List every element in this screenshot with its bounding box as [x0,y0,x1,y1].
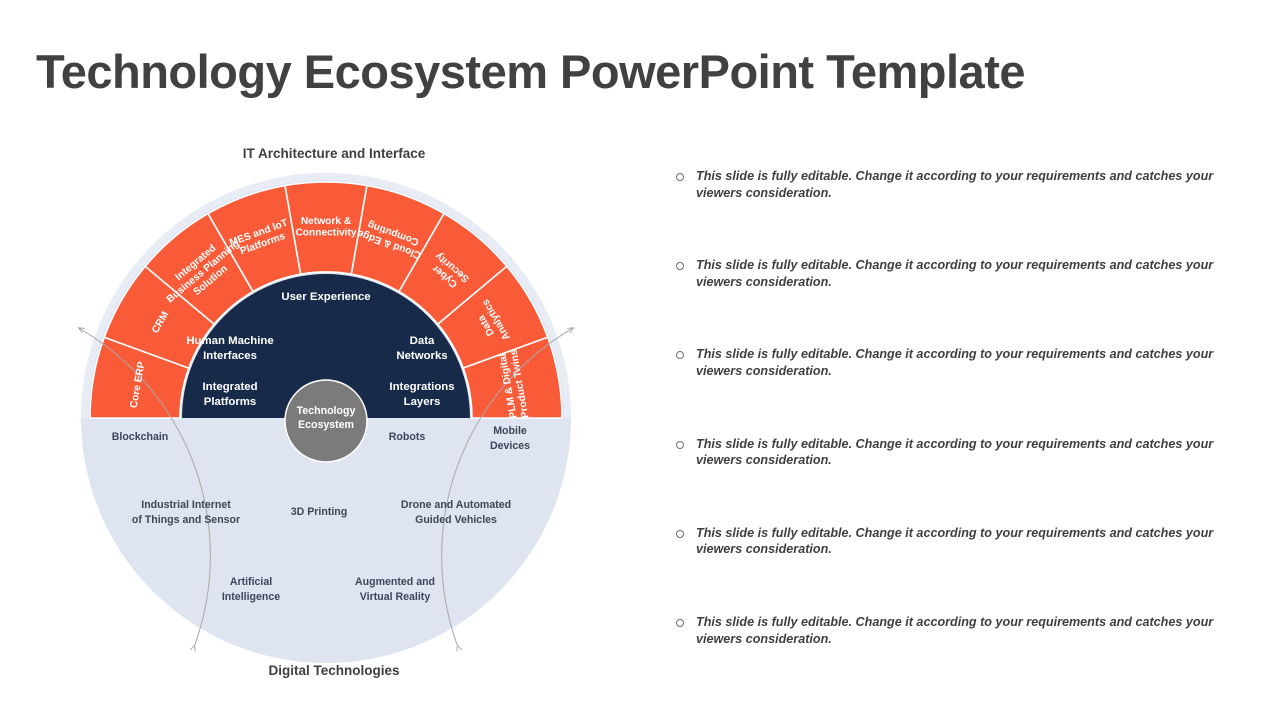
diagram-caption-bottom: Digital Technologies [34,663,634,678]
svg-text:Artificial: Artificial [230,576,272,588]
bullet-circle-icon [676,441,684,449]
svg-text:of Things and Sensor: of Things and Sensor [132,514,240,526]
svg-text:Interfaces: Interfaces [203,350,257,362]
bullet-circle-icon [676,351,684,359]
list-item: This slide is fully editable. Change it … [676,614,1221,647]
svg-text:Layers: Layers [404,396,441,408]
svg-text:Robots: Robots [389,431,426,443]
technology-ecosystem-wheel: IT Architecture and Interface Core ERPCR… [40,130,640,690]
bullet-text: This slide is fully editable. Change it … [696,614,1221,647]
ring-segment-label: Network & [301,216,352,227]
svg-text:Integrations: Integrations [389,381,454,393]
list-item: This slide is fully editable. Change it … [676,436,1221,469]
wheel-svg: Core ERPCRMIntegratedBusiness PlanningSo… [40,130,640,690]
ring-segment-label: Connectivity [295,227,356,238]
bullet-text: This slide is fully editable. Change it … [696,257,1221,290]
bullet-circle-icon [676,173,684,181]
bullet-circle-icon [676,619,684,627]
svg-text:Human Machine: Human Machine [186,335,273,347]
outer-technology-label[interactable]: 3D Printing [291,506,348,518]
bullet-circle-icon [676,530,684,538]
list-item: This slide is fully editable. Change it … [676,346,1221,379]
svg-text:Ecosystem: Ecosystem [298,419,354,431]
bullet-text: This slide is fully editable. Change it … [696,168,1221,201]
ring-segment[interactable]: Network &Connectivity [295,216,356,239]
svg-text:Drone and Automated: Drone and Automated [401,499,511,511]
inner-ring-label[interactable]: User Experience [281,291,370,303]
bullet-text: This slide is fully editable. Change it … [696,525,1221,558]
svg-text:Data: Data [410,335,435,347]
list-item: This slide is fully editable. Change it … [676,257,1221,290]
bullet-text: This slide is fully editable. Change it … [696,346,1221,379]
bullet-circle-icon [676,262,684,270]
svg-text:Technology: Technology [297,405,356,417]
outer-technology-label[interactable]: Robots [389,431,426,443]
slide-canvas: Technology Ecosystem PowerPoint Template… [0,0,1280,720]
svg-text:Augmented and: Augmented and [355,576,435,588]
svg-text:Networks: Networks [396,350,447,362]
bullet-list: This slide is fully editable. Change it … [676,168,1221,647]
svg-text:Devices: Devices [490,440,530,452]
svg-text:Mobile: Mobile [493,425,527,437]
svg-text:User Experience: User Experience [281,291,370,303]
svg-text:Platforms: Platforms [204,396,257,408]
svg-text:Industrial Internet: Industrial Internet [141,499,231,511]
list-item: This slide is fully editable. Change it … [676,168,1221,201]
list-item: This slide is fully editable. Change it … [676,525,1221,558]
bullet-text: This slide is fully editable. Change it … [696,436,1221,469]
svg-text:Virtual Reality: Virtual Reality [360,591,431,603]
svg-text:Blockchain: Blockchain [112,431,169,443]
outer-technology-label[interactable]: Blockchain [112,431,169,443]
svg-text:Guided Vehicles: Guided Vehicles [415,514,497,526]
svg-text:3D Printing: 3D Printing [291,506,348,518]
svg-text:Intelligence: Intelligence [222,591,280,603]
page-title: Technology Ecosystem PowerPoint Template [36,44,1025,99]
svg-text:Integrated: Integrated [202,381,257,393]
